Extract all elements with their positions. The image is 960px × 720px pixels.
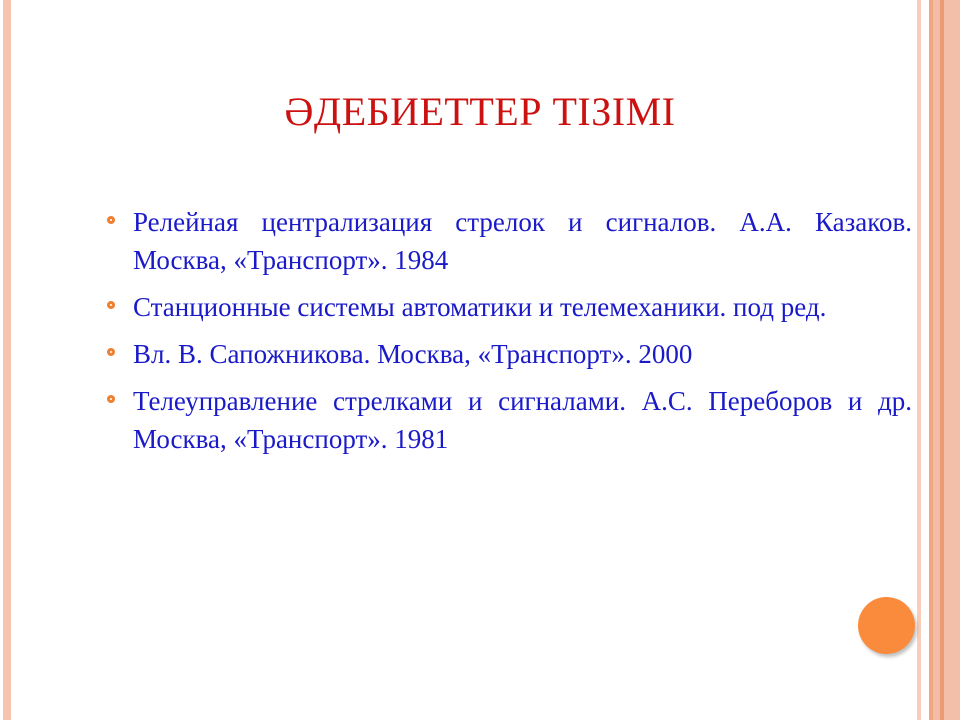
ring-bullet-icon [107,301,115,309]
ring-bullet-icon [107,395,115,403]
right-accent-stripe-two [940,0,944,720]
ring-bullet-icon [107,348,115,356]
reference-text: Станционные системы автоматики и телемех… [133,288,912,326]
reference-text: Вл. В. Сапожникова. Москва, «Транспорт».… [133,335,912,373]
list-item: Вл. В. Сапожникова. Москва, «Транспорт».… [100,335,912,373]
right-soft-stripe [944,0,960,720]
list-item: Релейная централизация стрелок и сигнало… [100,203,912,279]
right-thin-stripe [917,0,921,720]
reference-text: Телеуправление стрелками и сигналами. А.… [133,382,912,458]
reference-text: Релейная централизация стрелок и сигнало… [133,203,912,279]
left-decorative-stripe [3,0,11,720]
list-item: Телеуправление стрелками и сигналами. А.… [100,382,912,458]
ring-bullet-icon [107,216,115,224]
list-item: Станционные системы автоматики и телемех… [100,288,912,326]
slide-canvas: ӘДЕБИЕТТЕР ТІЗІМІ Релейная централизация… [0,0,960,720]
right-accent-stripe-one [929,0,933,720]
decorative-orange-circle [858,597,915,654]
reference-list: Релейная централизация стрелок и сигнало… [100,203,912,458]
slide-title: ӘДЕБИЕТТЕР ТІЗІМІ [60,88,900,136]
